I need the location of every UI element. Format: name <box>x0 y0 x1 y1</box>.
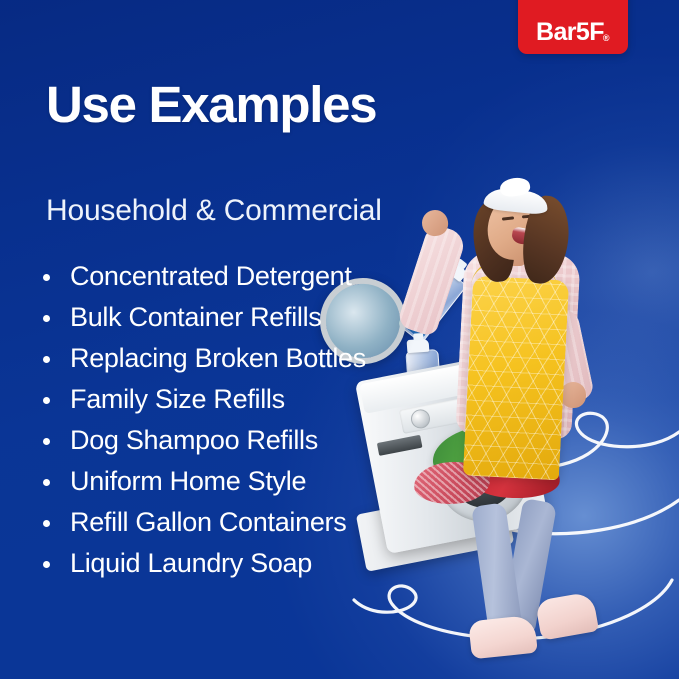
list-item-label: Replacing Broken Bottles <box>70 343 366 373</box>
woman-yellow-apron <box>463 276 569 481</box>
list-item: Bulk Container Refills <box>40 297 366 338</box>
brand-logo-name: Bar5F <box>536 18 604 46</box>
list-item: Liquid Laundry Soap <box>40 543 366 584</box>
bullet-dot-icon <box>43 479 50 486</box>
list-item-label: Uniform Home Style <box>70 466 306 496</box>
woman-shoe-front <box>468 615 538 660</box>
list-item: Dog Shampoo Refills <box>40 420 366 461</box>
bullet-dot-icon <box>43 520 50 527</box>
list-item-label: Family Size Refills <box>70 384 285 414</box>
list-item: Refill Gallon Containers <box>40 502 366 543</box>
list-item-label: Concentrated Detergent <box>70 261 352 291</box>
list-item: Family Size Refills <box>40 379 366 420</box>
subheading: Household & Commercial <box>46 194 382 227</box>
promo-banner: Bar5F® Use Examples Household & Commerci… <box>0 0 679 679</box>
list-item-label: Dog Shampoo Refills <box>70 425 318 455</box>
list-item: Concentrated Detergent <box>40 256 366 297</box>
use-examples-list: Concentrated Detergent Bulk Container Re… <box>40 256 366 584</box>
list-item-label: Refill Gallon Containers <box>70 507 346 537</box>
list-item: Uniform Home Style <box>40 461 366 502</box>
lifestyle-photo <box>352 200 679 679</box>
bullet-dot-icon <box>43 438 50 445</box>
bullet-dot-icon <box>43 315 50 322</box>
bullet-dot-icon <box>43 397 50 404</box>
bullet-dot-icon <box>43 274 50 281</box>
page-title: Use Examples <box>46 78 376 132</box>
list-item-label: Liquid Laundry Soap <box>70 548 312 578</box>
bullet-dot-icon <box>43 356 50 363</box>
bullet-dot-icon <box>43 561 50 568</box>
list-item-label: Bulk Container Refills <box>70 302 322 332</box>
registered-trademark-icon: ® <box>603 33 609 43</box>
brand-logo-text: Bar5F® <box>536 20 610 45</box>
woman-fist-lowered <box>560 382 586 408</box>
pump-nozzle-icon <box>407 339 430 354</box>
list-item: Replacing Broken Bottles <box>40 338 366 379</box>
washer-dial-knob <box>409 408 431 430</box>
brand-logo-badge: Bar5F® <box>518 0 628 54</box>
